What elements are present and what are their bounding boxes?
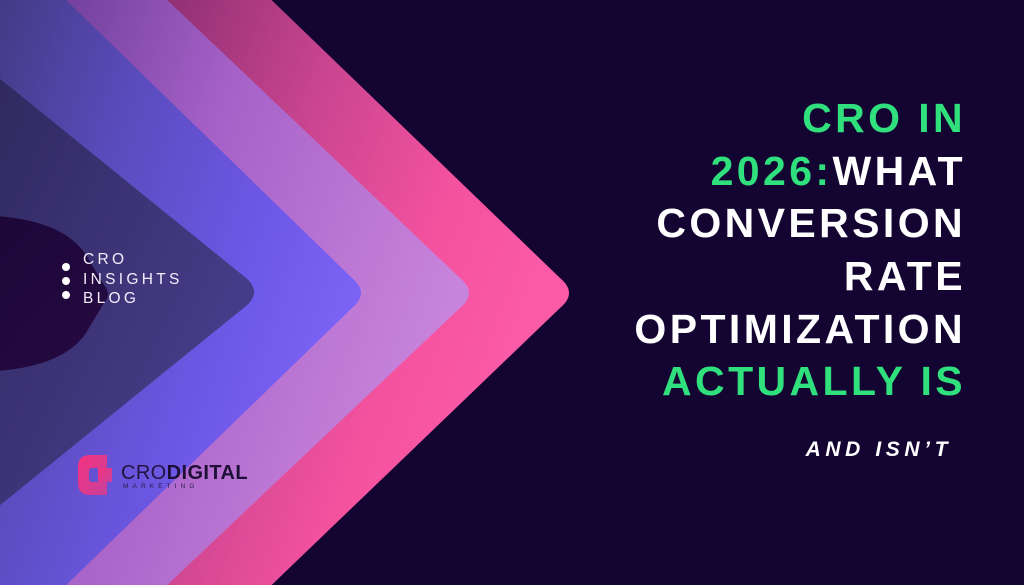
crodigital-c-mark-icon	[78, 455, 112, 495]
title-line-2-accent: 2026:	[711, 148, 833, 194]
brand-line-insights: INSIGHTS	[83, 272, 183, 289]
blog-banner: CRO INSIGHTS BLOG CRODIGITAL MARKETING	[0, 0, 1024, 585]
logo-tagline: MARKETING	[121, 484, 248, 491]
title-line-2-plain: WHAT	[832, 148, 966, 194]
brand-dots-icon	[62, 261, 70, 299]
crodigital-wordmark: CRODIGITAL	[121, 463, 248, 483]
title-line-4: RATE	[844, 253, 966, 299]
brand-dot-3	[62, 291, 70, 299]
brand-line-cro: CRO	[83, 252, 183, 269]
brand-dot-2	[62, 277, 70, 285]
headline-block: CRO IN 2026:WHAT CONVERSION RATE OPTIMIZ…	[406, 92, 966, 462]
title-line-1: CRO IN	[802, 95, 966, 141]
crodigital-logo: CRODIGITAL MARKETING	[78, 455, 248, 495]
logo-word-digital: DIGITAL	[167, 462, 248, 484]
crodigital-logo-text: CRODIGITAL MARKETING	[121, 460, 248, 491]
blog-brand-badge: CRO INSIGHTS BLOG	[62, 252, 183, 308]
brand-line-blog: BLOG	[83, 291, 183, 308]
logo-word-cro: CRO	[121, 462, 167, 484]
brand-text-lines: CRO INSIGHTS BLOG	[83, 252, 183, 308]
title-line-3: CONVERSION	[656, 200, 966, 246]
page-title: CRO IN 2026:WHAT CONVERSION RATE OPTIMIZ…	[406, 92, 966, 408]
title-line-5: OPTIMIZATION	[634, 306, 966, 352]
brand-dot-1	[62, 263, 70, 271]
title-line-6: ACTUALLY IS	[662, 358, 966, 404]
page-subtitle: AND ISN’T	[406, 438, 966, 462]
